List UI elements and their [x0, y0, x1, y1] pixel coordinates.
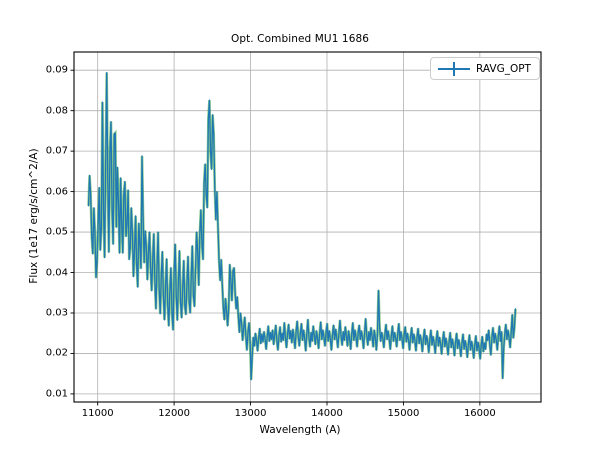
y-tick-label: 0.05	[32, 227, 68, 238]
y-tick-label: 0.08	[32, 105, 68, 116]
x-tick-label: 11000	[82, 408, 114, 419]
x-tick-label: 15000	[388, 408, 420, 419]
y-tick-label: 0.07	[32, 146, 68, 157]
x-tick-label: 13000	[235, 408, 267, 419]
y-tick-label: 0.04	[32, 267, 68, 278]
legend-item-ravg-opt[interactable]: RAVG_OPT	[431, 58, 539, 79]
y-tick-label: 0.06	[32, 186, 68, 197]
y-tick-label: 0.02	[32, 348, 68, 359]
y-tick-label: 0.03	[32, 307, 68, 318]
legend-label-ravg-opt: RAVG_OPT	[476, 63, 531, 75]
x-axis-label: Wavelength (A)	[0, 424, 600, 436]
x-tick-label: 12000	[158, 408, 190, 419]
figure-canvas: Opt. Combined MU1 1686 Flux (1e17 erg/s/…	[0, 0, 600, 450]
y-tick-label: 0.01	[32, 388, 68, 399]
x-tick-label: 14000	[311, 408, 343, 419]
legend[interactable]: RAVG_OPT	[430, 57, 540, 80]
legend-line-icon	[437, 61, 471, 77]
x-tick-label: 16000	[464, 408, 496, 419]
y-tick-label: 0.09	[32, 65, 68, 76]
